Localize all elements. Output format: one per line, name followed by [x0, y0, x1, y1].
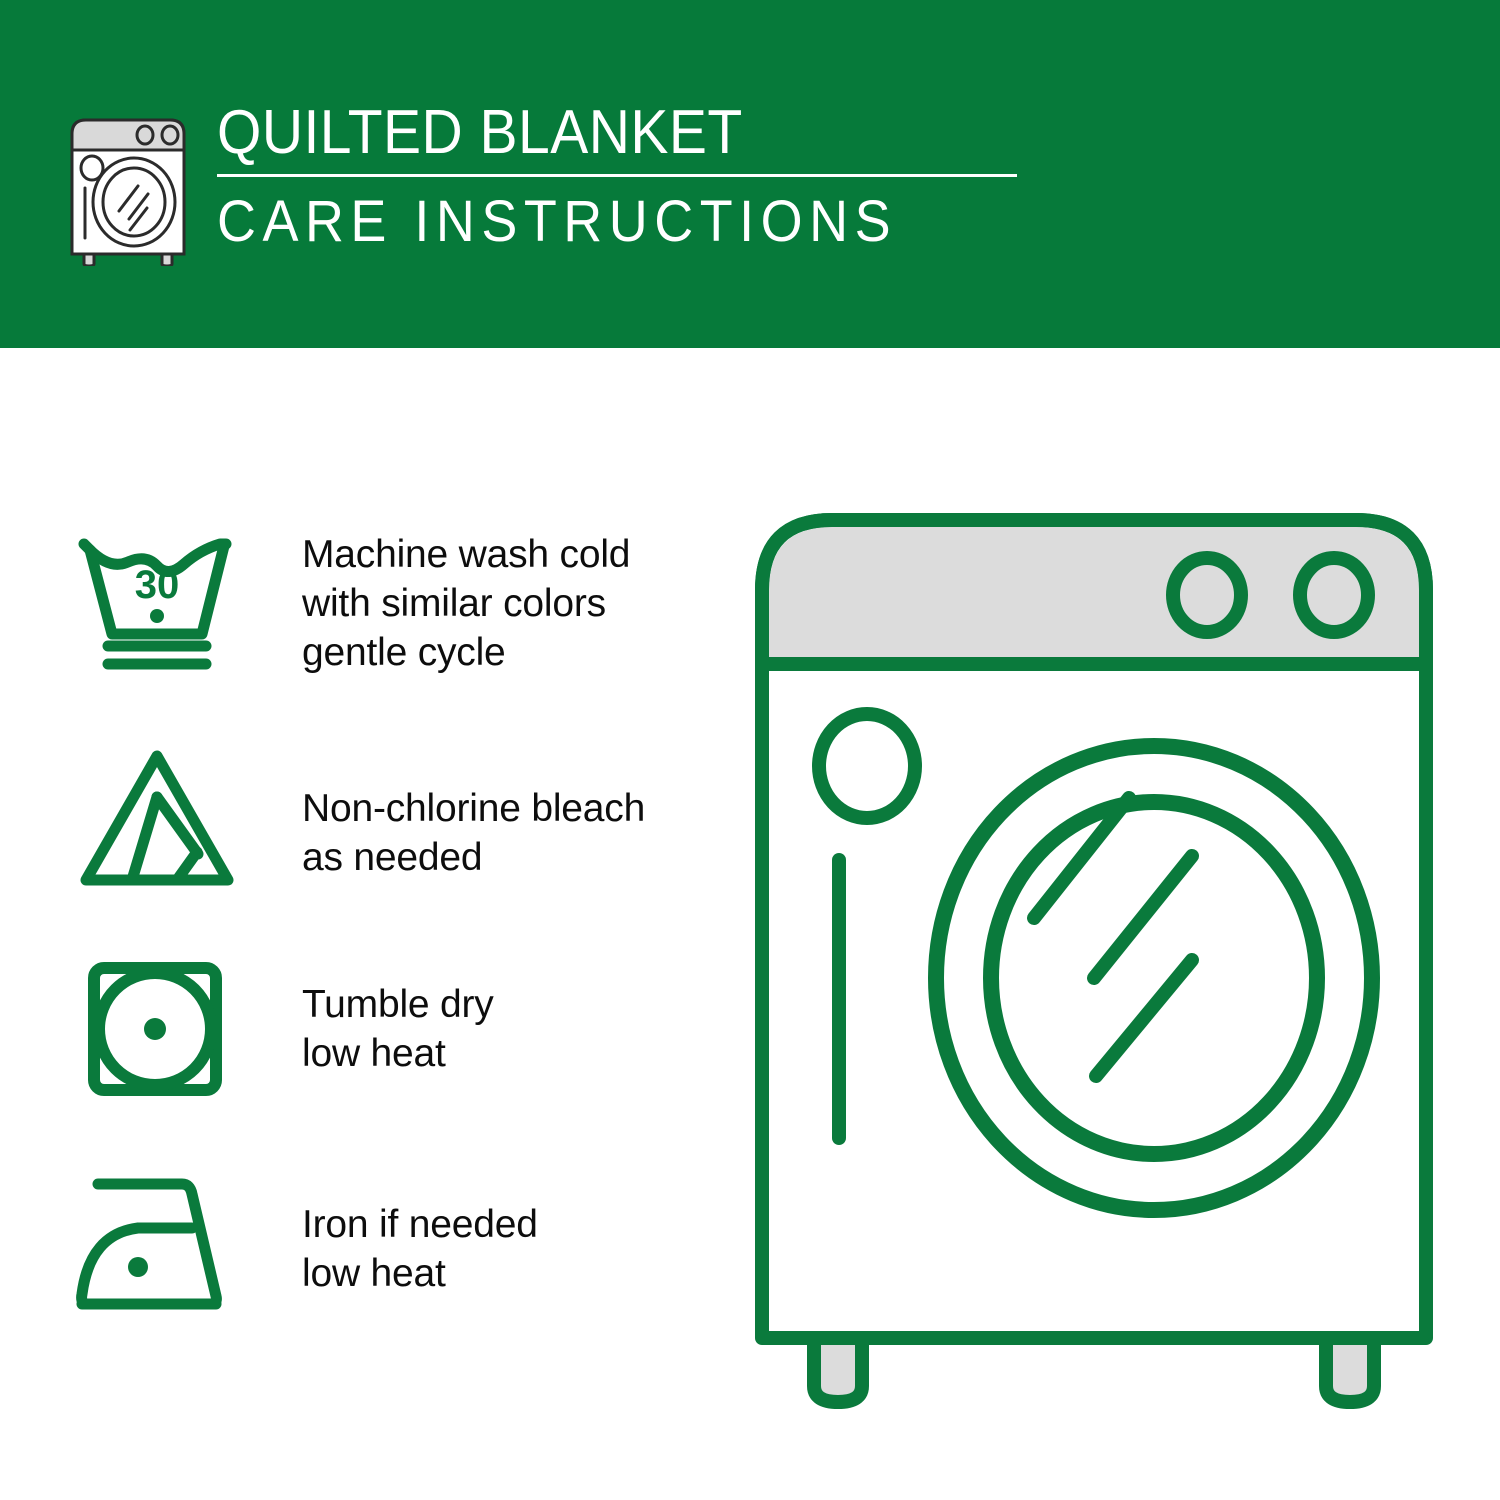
care-item-bleach: Non-chlorine bleach as needed [72, 732, 712, 952]
care-item-text: Non-chlorine bleach as needed [302, 784, 645, 882]
care-item-tumble-dry: Tumble dry low heat [72, 952, 712, 1172]
leg-left [814, 1338, 862, 1402]
wash-dot-icon [150, 609, 164, 623]
detergent-port [819, 714, 915, 818]
header-content: QUILTED BLANKET CARE INSTRUCTIONS [62, 98, 1062, 278]
page-subtitle: CARE INSTRUCTIONS [217, 189, 998, 255]
bleach-triangle-icon [72, 742, 242, 892]
wash-temperature-label: 30 [135, 563, 180, 607]
care-item-text: Machine wash cold with similar colors ge… [302, 530, 630, 677]
washing-machine-illustration [744, 498, 1444, 1418]
header-banner: QUILTED BLANKET CARE INSTRUCTIONS [0, 0, 1500, 348]
iron-icon [72, 1172, 242, 1322]
knob-right [1300, 558, 1368, 632]
title-divider [217, 174, 1017, 177]
washing-machine-logo-icon [62, 106, 194, 266]
care-instruction-list: 30 Machine wash cold with similar colors… [72, 512, 712, 1392]
care-item-text: Tumble dry low heat [302, 980, 494, 1078]
care-item-text: Iron if needed low heat [302, 1200, 538, 1298]
care-item-machine-wash: 30 Machine wash cold with similar colors… [72, 512, 712, 732]
wash-tub-30-icon: 30 [72, 526, 242, 676]
tumble-dry-icon [72, 954, 242, 1104]
page-title: QUILTED BLANKET [217, 98, 990, 168]
leg-right [1326, 1338, 1374, 1402]
header-titles: QUILTED BLANKET CARE INSTRUCTIONS [217, 98, 1057, 255]
tumble-dry-dot-icon [144, 1018, 166, 1040]
care-item-iron: Iron if needed low heat [72, 1172, 712, 1392]
care-instructions-page: QUILTED BLANKET CARE INSTRUCTIONS [0, 0, 1500, 1500]
knob-left [1173, 558, 1241, 632]
iron-dot-icon [128, 1257, 148, 1277]
door-inner-ring [991, 802, 1317, 1154]
